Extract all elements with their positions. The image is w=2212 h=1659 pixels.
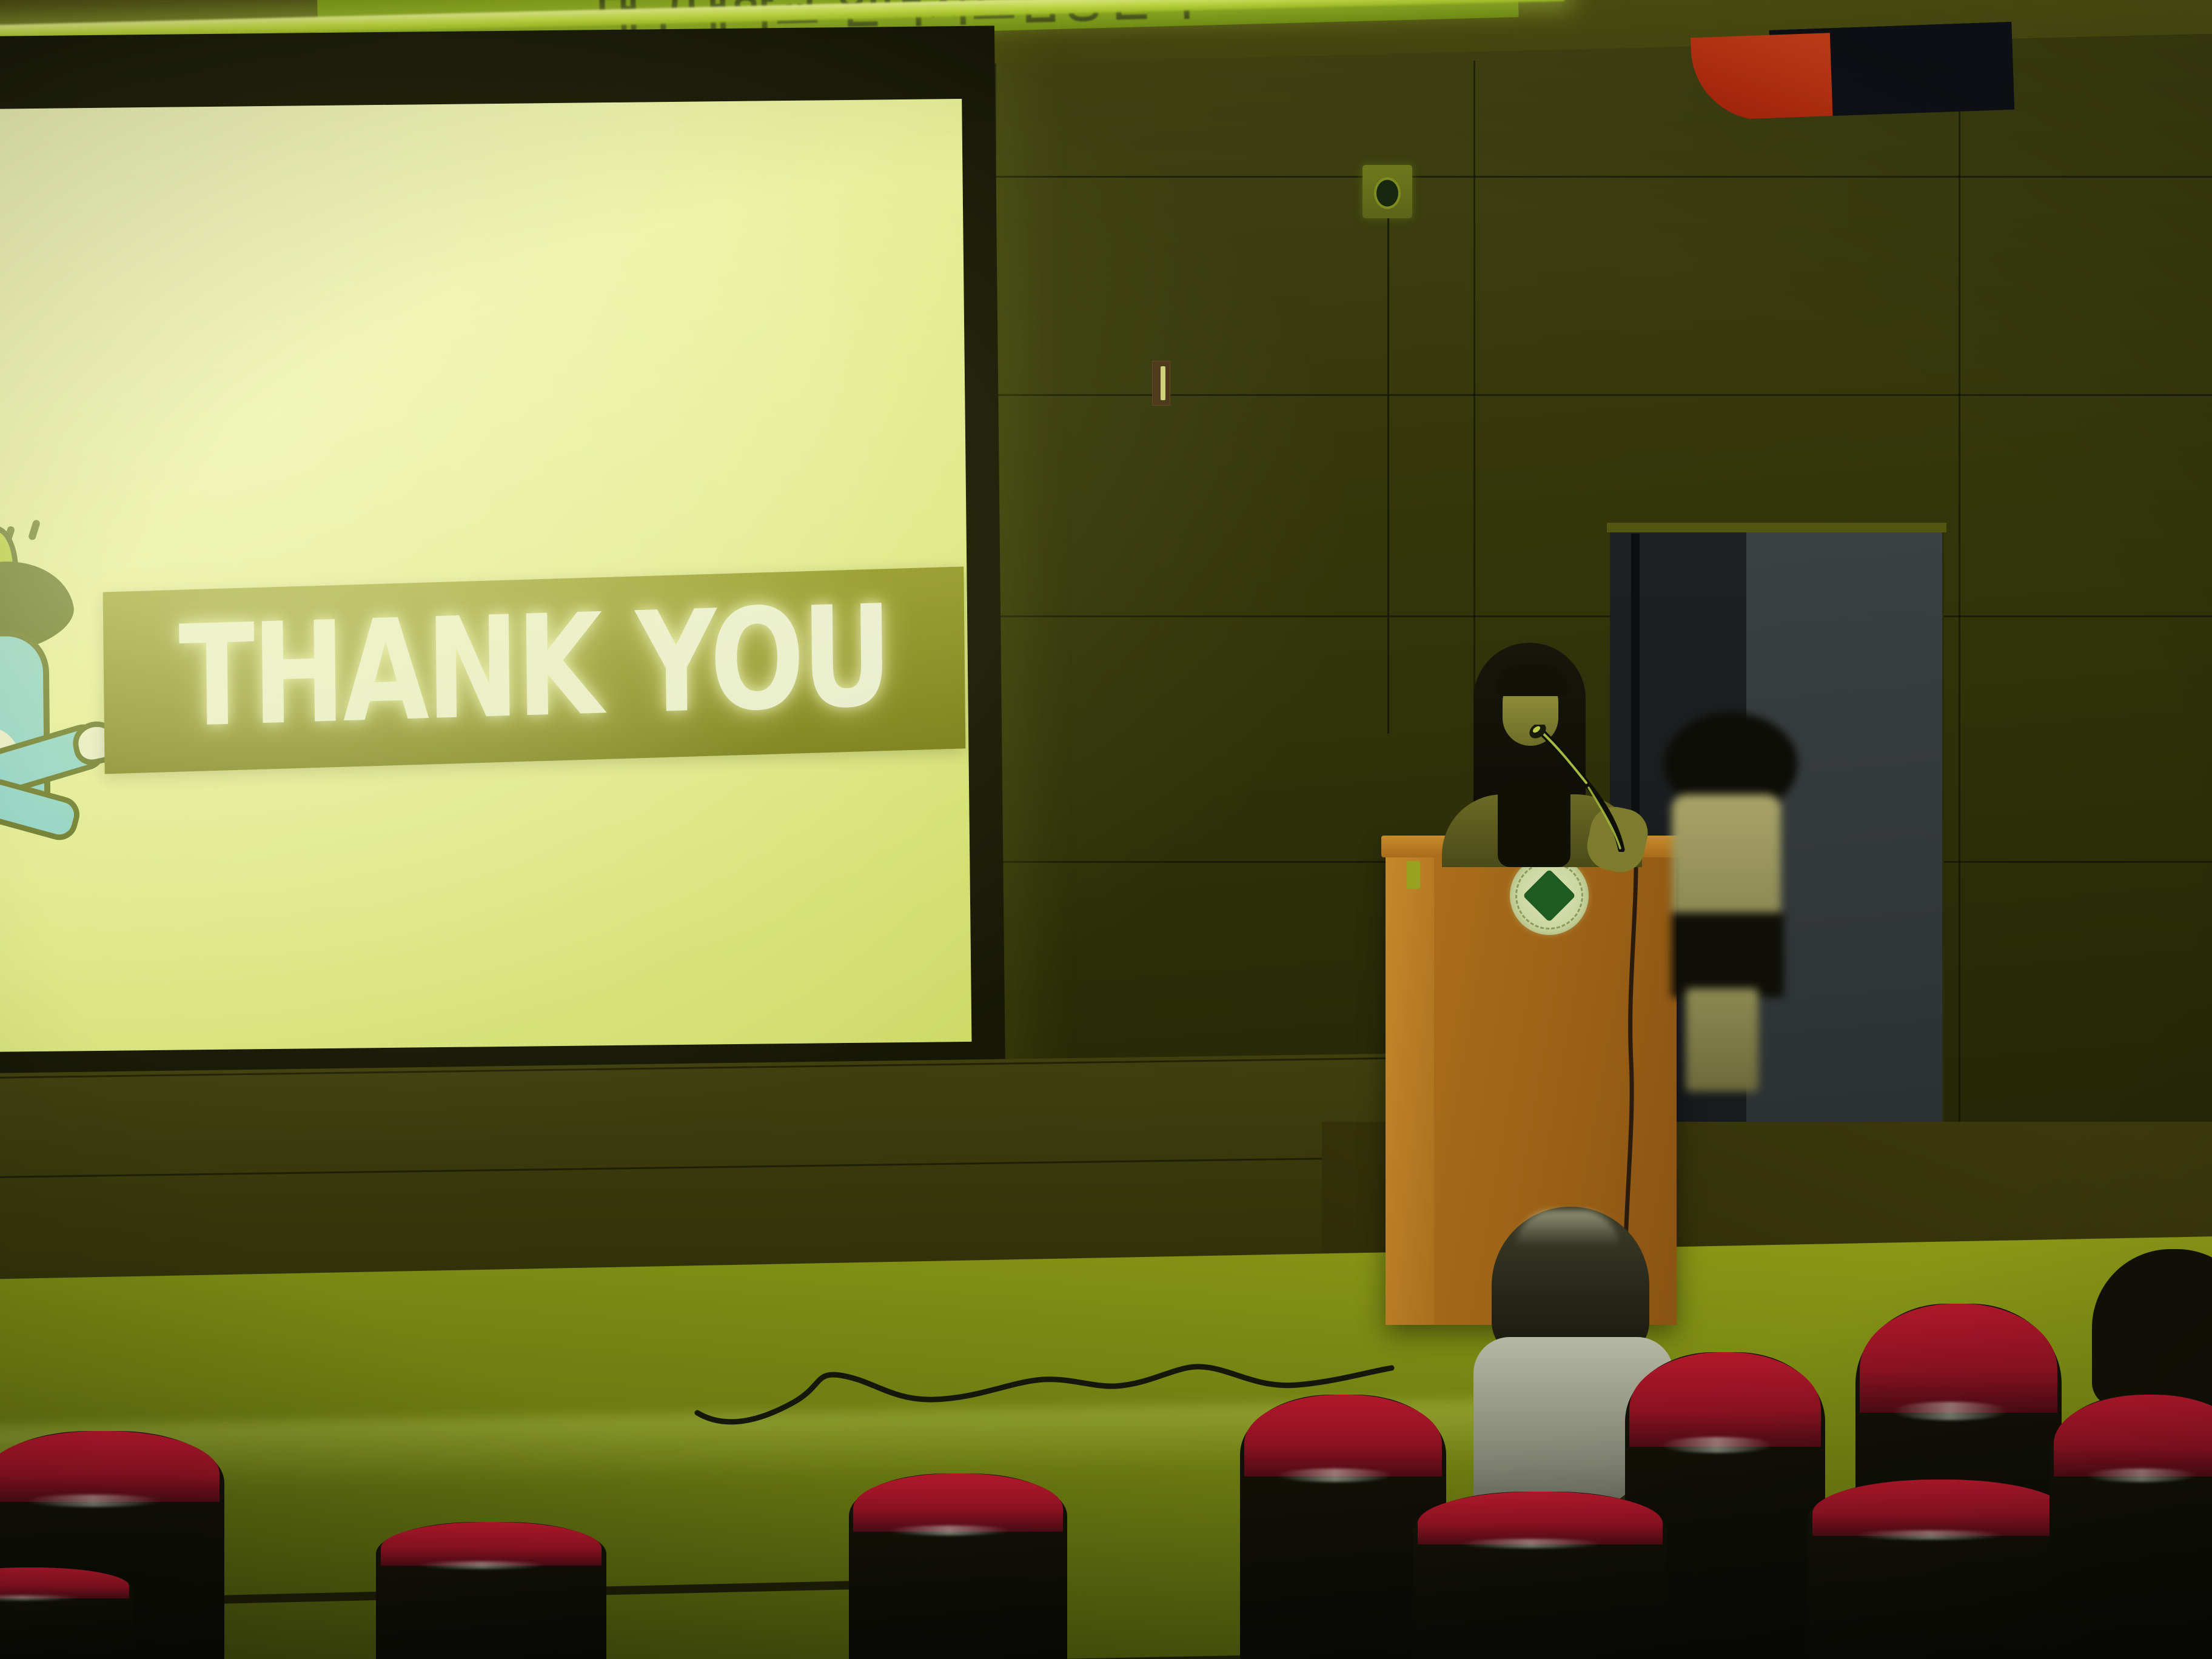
assistant-person — [1628, 712, 1828, 1088]
wall-camera-icon — [1362, 165, 1412, 218]
podium-nameplate — [1407, 861, 1420, 889]
presenter-bangs — [1495, 665, 1568, 696]
podium-side-panel — [1386, 843, 1434, 1325]
university-crest-icon — [1510, 856, 1589, 935]
auditorium-seat[interactable] — [1413, 1492, 1667, 1659]
camera-lens-icon — [1374, 178, 1401, 209]
mascot-character — [0, 484, 99, 862]
auditorium-seat[interactable] — [0, 1567, 133, 1659]
wall-seam — [994, 176, 2212, 178]
wall-seam — [994, 615, 2212, 617]
thank-you-text: THANK YOU — [178, 587, 890, 748]
projection-screen-frame: THANK YOU — [0, 25, 1005, 1079]
audience-hair — [2092, 1249, 2212, 1407]
auditorium-photo: 대구대학교 언어치료임상센터 — [0, 0, 2212, 1659]
auditorium-seat[interactable] — [2049, 1395, 2212, 1659]
banner-red-swoosh — [1691, 33, 1833, 121]
assistant-skirt — [1672, 913, 1784, 997]
door-frame-highlight — [1607, 523, 1946, 532]
assistant-legs — [1686, 988, 1758, 1091]
assistant-shirt — [1672, 794, 1781, 925]
wall-seam — [994, 394, 2212, 396]
wall-switch-icon[interactable] — [1152, 361, 1170, 406]
thank-you-band: THANK YOU — [103, 566, 966, 774]
decorative-banner — [1691, 22, 2015, 121]
auditorium-seat[interactable] — [1807, 1480, 2074, 1659]
projection-screen: THANK YOU — [0, 99, 971, 1052]
camera-cable — [1387, 218, 1389, 734]
auditorium-seat[interactable] — [376, 1522, 606, 1659]
mascot-motion-dash — [28, 519, 41, 541]
auditorium-seat[interactable] — [849, 1473, 1067, 1659]
